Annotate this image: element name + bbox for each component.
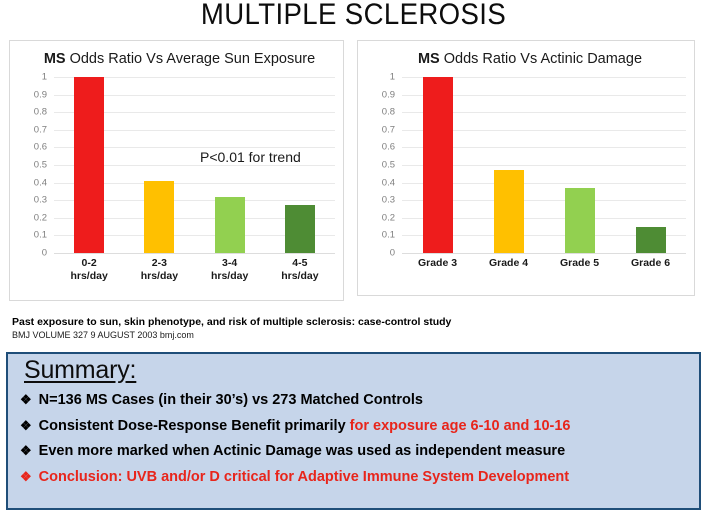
x-axis-label-sun-exposure-3: 4-5hrs/day [265,257,335,283]
x-axis-label-line: Grade 6 [615,257,686,270]
y-axis-tick-actinic-damage: 0.9 [382,90,395,100]
diamond-bullet-icon: ❖ [20,419,32,432]
y-axis-tick-sun-exposure: 0.6 [34,143,47,153]
bar-sun-exposure-2[interactable] [215,197,245,253]
plot-area-actinic-damage [402,77,686,253]
x-axis-label-sun-exposure-1: 2-3hrs/day [124,257,194,283]
citation-study-title: Past exposure to sun, skin phenotype, an… [12,315,672,329]
x-axis-label-actinic-damage-1: Grade 4 [473,257,544,270]
plot-area-sun-exposure [54,77,335,253]
summary-bullet-0: ❖N=136 MS Cases (in their 30’s) vs 273 M… [20,393,691,408]
y-axis-tick-actinic-damage: 0.1 [382,231,395,241]
x-axis-label-line: hrs/day [195,270,265,283]
x-axis-label-line: Grade 4 [473,257,544,270]
summary-bullet-text-primary: Consistent Dose-Response Benefit primari… [39,418,350,434]
x-axis-label-sun-exposure-2: 3-4hrs/day [195,257,265,283]
bar-slot [402,77,473,253]
p-value-annotation-sun-exposure: P<0.01 for trend [200,149,301,165]
citation: Past exposure to sun, skin phenotype, an… [12,315,672,341]
bar-slot [265,77,335,253]
summary-bullet-2: ❖Even more marked when Actinic Damage wa… [20,444,691,459]
y-axis-tick-sun-exposure: 0 [42,248,47,258]
y-axis-tick-sun-exposure: 0.9 [34,90,47,100]
y-axis-tick-actinic-damage: 0.8 [382,107,395,117]
y-axis-tick-sun-exposure: 0.5 [34,160,47,170]
y-axis-tick-sun-exposure: 0.3 [34,195,47,205]
page-title: MULTIPLE SCLEROSIS [28,0,678,32]
gridline [402,253,686,254]
x-axis-sun-exposure: 0-2hrs/day2-3hrs/day3-4hrs/day4-5hrs/day [54,257,335,283]
y-axis-tick-actinic-damage: 0.2 [382,213,395,223]
y-axis-tick-actinic-damage: 0.7 [382,125,395,135]
bar-actinic-damage-1[interactable] [494,170,524,253]
y-axis-tick-sun-exposure: 1 [42,72,47,82]
bar-slot [195,77,265,253]
summary-heading: Summary: [24,356,136,385]
y-axis-tick-actinic-damage: 0.5 [382,160,395,170]
x-axis-label-line: Grade 3 [402,257,473,270]
bar-slot [544,77,615,253]
summary-bullet-1: ❖Consistent Dose-Response Benefit primar… [20,419,691,434]
y-axis-tick-sun-exposure: 0.1 [34,231,47,241]
bar-slot [615,77,686,253]
plot-wrap-sun-exposure: 10.90.80.70.60.50.40.30.20.10 0-2hrs/day… [10,77,343,297]
bar-actinic-damage-2[interactable] [565,188,595,253]
y-axis-sun-exposure: 10.90.80.70.60.50.40.30.20.10 [10,77,52,253]
x-axis-label-sun-exposure-0: 0-2hrs/day [54,257,124,283]
summary-box: Summary: ❖N=136 MS Cases (in their 30’s)… [6,352,701,510]
summary-bullet-3: ❖Conclusion: UVB and/or D critical for A… [20,470,691,485]
plot-wrap-actinic-damage: 10.90.80.70.60.50.40.30.20.10 Grade 3Gra… [358,77,694,293]
chart-title-prefix: MS [44,51,66,67]
summary-bullet-text: N=136 MS Cases (in their 30’s) vs 273 Ma… [39,393,423,408]
bar-sun-exposure-1[interactable] [144,181,174,253]
x-axis-label-actinic-damage-3: Grade 6 [615,257,686,270]
chart-title-rest: Odds Ratio Vs Actinic Damage [440,51,642,67]
y-axis-tick-actinic-damage: 0.3 [382,195,395,205]
diamond-bullet-icon: ❖ [20,393,32,406]
summary-list: ❖N=136 MS Cases (in their 30’s) vs 273 M… [20,393,691,495]
chart-panel-actinic-damage: MS Odds Ratio Vs Actinic Damage 10.90.80… [357,40,695,296]
x-axis-label-line: hrs/day [124,270,194,283]
summary-bullet-text-primary: N=136 MS Cases (in their 30’s) vs 273 Ma… [39,392,423,408]
bar-actinic-damage-0[interactable] [423,77,453,253]
citation-source: BMJ VOLUME 327 9 AUGUST 2003 bmj.com [12,329,672,341]
bar-slot [473,77,544,253]
summary-bullet-text-highlight: for exposure age 6-10 and 10-16 [350,418,571,434]
bar-slot [124,77,194,253]
chart-title-sun-exposure: MS Odds Ratio Vs Average Sun Exposure [10,51,343,67]
x-axis-label-actinic-damage-2: Grade 5 [544,257,615,270]
y-axis-actinic-damage: 10.90.80.70.60.50.40.30.20.10 [358,77,400,253]
summary-bullet-text: Conclusion: UVB and/or D critical for Ad… [39,470,569,485]
x-axis-label-line: hrs/day [54,270,124,283]
x-axis-actinic-damage: Grade 3Grade 4Grade 5Grade 6 [402,257,686,270]
bar-actinic-damage-3[interactable] [636,227,666,253]
y-axis-tick-sun-exposure: 0.8 [34,107,47,117]
diamond-bullet-icon: ❖ [20,444,32,457]
chart-title-prefix: MS [418,51,440,67]
x-axis-label-line: 0-2 [54,257,124,270]
y-axis-tick-sun-exposure: 0.4 [34,178,47,188]
chart-title-actinic-damage: MS Odds Ratio Vs Actinic Damage [358,51,694,67]
y-axis-tick-sun-exposure: 0.7 [34,125,47,135]
summary-bullet-text: Even more marked when Actinic Damage was… [39,444,565,459]
chart-panel-sun-exposure: MS Odds Ratio Vs Average Sun Exposure 10… [9,40,344,301]
y-axis-tick-actinic-damage: 0 [390,248,395,258]
bar-slot [54,77,124,253]
bar-series-sun-exposure [54,77,335,253]
diamond-bullet-icon: ❖ [20,470,32,483]
gridline [54,253,335,254]
x-axis-label-line: hrs/day [265,270,335,283]
chart-title-rest: Odds Ratio Vs Average Sun Exposure [66,51,316,67]
y-axis-tick-actinic-damage: 1 [390,72,395,82]
y-axis-tick-actinic-damage: 0.4 [382,178,395,188]
x-axis-label-actinic-damage-0: Grade 3 [402,257,473,270]
x-axis-label-line: 4-5 [265,257,335,270]
y-axis-tick-actinic-damage: 0.6 [382,143,395,153]
x-axis-label-line: Grade 5 [544,257,615,270]
x-axis-label-line: 2-3 [124,257,194,270]
x-axis-label-line: 3-4 [195,257,265,270]
bar-series-actinic-damage [402,77,686,253]
summary-bullet-text: Consistent Dose-Response Benefit primari… [39,419,571,434]
summary-bullet-text-primary: Even more marked when Actinic Damage was… [39,443,565,459]
bar-sun-exposure-0[interactable] [74,77,104,253]
bar-sun-exposure-3[interactable] [285,205,315,253]
y-axis-tick-sun-exposure: 0.2 [34,213,47,223]
summary-bullet-text-primary: Conclusion: UVB and/or D critical for Ad… [39,469,569,485]
